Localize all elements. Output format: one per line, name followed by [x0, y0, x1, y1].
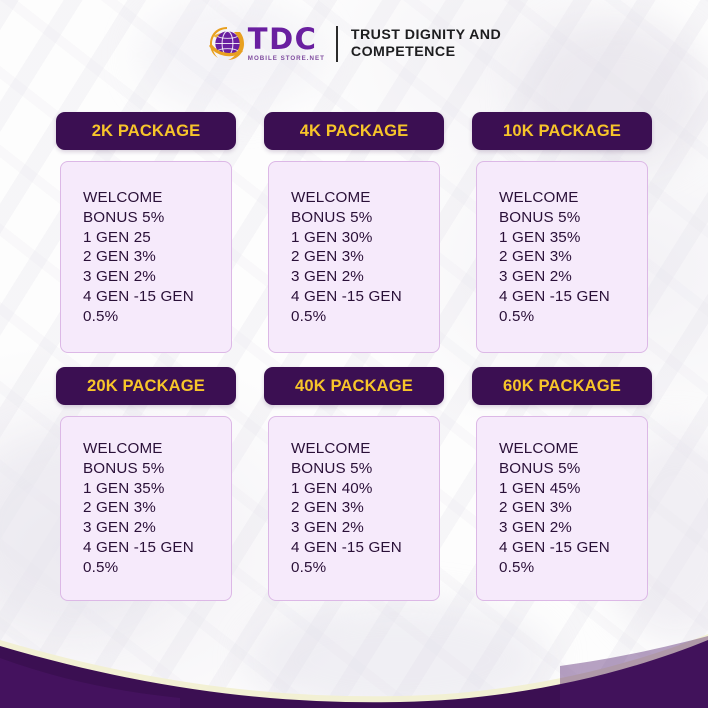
package-body: WELCOME BONUS 5% 1 GEN 40% 2 GEN 3% 3 GE…: [268, 416, 440, 601]
package-card-4k[interactable]: 4K PACKAGE WELCOME BONUS 5% 1 GEN 30% 2 …: [264, 112, 444, 353]
package-title-badge: 60K PACKAGE: [472, 367, 652, 405]
package-title-badge: 2K PACKAGE: [56, 112, 236, 150]
package-body: WELCOME BONUS 5% 1 GEN 45% 2 GEN 3% 3 GE…: [476, 416, 648, 601]
package-grid: 2K PACKAGE WELCOME BONUS 5% 1 GEN 25 2 G…: [56, 112, 652, 601]
package-title-badge: 20K PACKAGE: [56, 367, 236, 405]
package-details: WELCOME BONUS 5% 1 GEN 45% 2 GEN 3% 3 GE…: [499, 439, 647, 577]
header-divider: [336, 26, 338, 62]
package-body: WELCOME BONUS 5% 1 GEN 30% 2 GEN 3% 3 GE…: [268, 161, 440, 353]
package-title-badge: 4K PACKAGE: [264, 112, 444, 150]
logo-wordmark: TDC MOBILE STORE.NET: [248, 26, 325, 62]
background-blotch: [250, 600, 550, 708]
bottom-wave-decoration: [0, 618, 708, 708]
logo-text: TDC: [248, 26, 318, 54]
package-details: WELCOME BONUS 5% 1 GEN 35% 2 GEN 3% 3 GE…: [83, 439, 231, 577]
brand-tagline: TRUST DIGNITY AND COMPETENCE: [351, 27, 501, 62]
package-details: WELCOME BONUS 5% 1 GEN 35% 2 GEN 3% 3 GE…: [499, 188, 647, 326]
package-details: WELCOME BONUS 5% 1 GEN 30% 2 GEN 3% 3 GE…: [291, 188, 439, 326]
package-details: WELCOME BONUS 5% 1 GEN 25 2 GEN 3% 3 GEN…: [83, 188, 231, 326]
package-card-40k[interactable]: 40K PACKAGE WELCOME BONUS 5% 1 GEN 40% 2…: [264, 367, 444, 601]
package-card-20k[interactable]: 20K PACKAGE WELCOME BONUS 5% 1 GEN 35% 2…: [56, 367, 236, 601]
package-title-badge: 10K PACKAGE: [472, 112, 652, 150]
promo-poster: TDC MOBILE STORE.NET TRUST DIGNITY AND C…: [0, 0, 708, 708]
package-body: WELCOME BONUS 5% 1 GEN 25 2 GEN 3% 3 GEN…: [60, 161, 232, 353]
package-body: WELCOME BONUS 5% 1 GEN 35% 2 GEN 3% 3 GE…: [476, 161, 648, 353]
package-body: WELCOME BONUS 5% 1 GEN 35% 2 GEN 3% 3 GE…: [60, 416, 232, 601]
package-card-10k[interactable]: 10K PACKAGE WELCOME BONUS 5% 1 GEN 35% 2…: [472, 112, 652, 353]
poster-header: TDC MOBILE STORE.NET TRUST DIGNITY AND C…: [0, 24, 708, 64]
globe-logo-icon: [207, 24, 247, 64]
package-title-badge: 40K PACKAGE: [264, 367, 444, 405]
package-details: WELCOME BONUS 5% 1 GEN 40% 2 GEN 3% 3 GE…: [291, 439, 439, 577]
package-card-2k[interactable]: 2K PACKAGE WELCOME BONUS 5% 1 GEN 25 2 G…: [56, 112, 236, 353]
brand-logo: TDC MOBILE STORE.NET: [207, 24, 325, 64]
logo-subtext: MOBILE STORE.NET: [248, 56, 325, 62]
package-card-60k[interactable]: 60K PACKAGE WELCOME BONUS 5% 1 GEN 45% 2…: [472, 367, 652, 601]
